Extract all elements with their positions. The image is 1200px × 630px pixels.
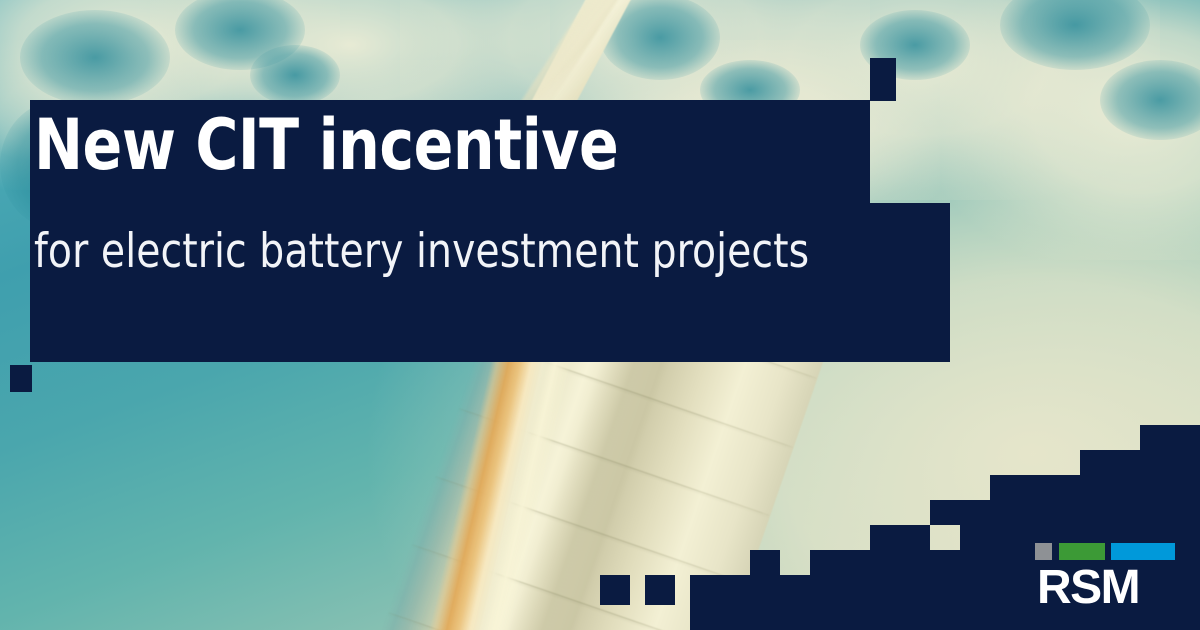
logo-bar-blue: [1111, 543, 1175, 560]
sky-gap: [1000, 0, 1150, 70]
panel-accent-tab-left: [10, 365, 32, 392]
sky-gap: [20, 10, 170, 105]
page-subtitle: for electric battery investment projects: [34, 218, 852, 286]
panel-accent-tab-top: [870, 58, 896, 101]
sky-gap: [175, 0, 305, 70]
sky-gap: [250, 45, 340, 105]
logo-wordmark: RSM: [1037, 564, 1139, 612]
cloud-shape: [940, 0, 1200, 260]
logo-bar-green: [1059, 543, 1105, 560]
sky-gap: [1100, 60, 1200, 140]
rsm-logo: RSM: [1035, 543, 1175, 613]
page-title: New CIT incentive: [34, 105, 778, 185]
banner-root: New CIT incentive for electric battery i…: [0, 0, 1200, 630]
logo-bar-gray: [1035, 543, 1052, 560]
